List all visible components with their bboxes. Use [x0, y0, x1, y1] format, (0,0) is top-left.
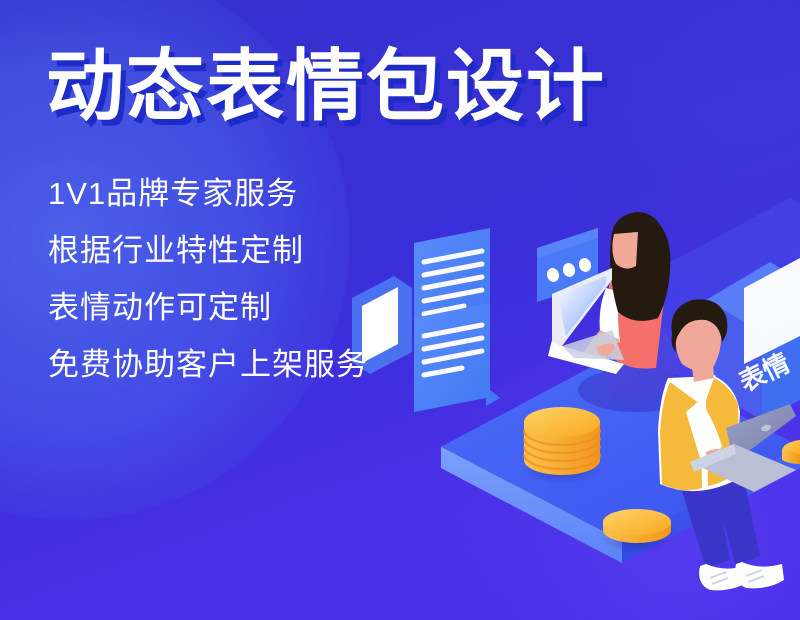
feature-item-3: 表情动作可定制 — [48, 292, 368, 323]
page-title: 动态表情包设计 — [46, 44, 606, 128]
coin-stack — [522, 407, 602, 484]
promo-banner: 表情 — [0, 0, 800, 620]
feature-item-1: 1V1品牌专家服务 — [48, 178, 368, 209]
feature-item-4: 免费协助客户上架服务 — [48, 349, 368, 380]
document-card-front — [414, 303, 500, 412]
feature-item-2: 根据行业特性定制 — [48, 235, 368, 266]
feature-list: 1V1品牌专家服务 根据行业特性定制 表情动作可定制 免费协助客户上架服务 — [48, 178, 368, 406]
single-coin — [601, 509, 673, 553]
